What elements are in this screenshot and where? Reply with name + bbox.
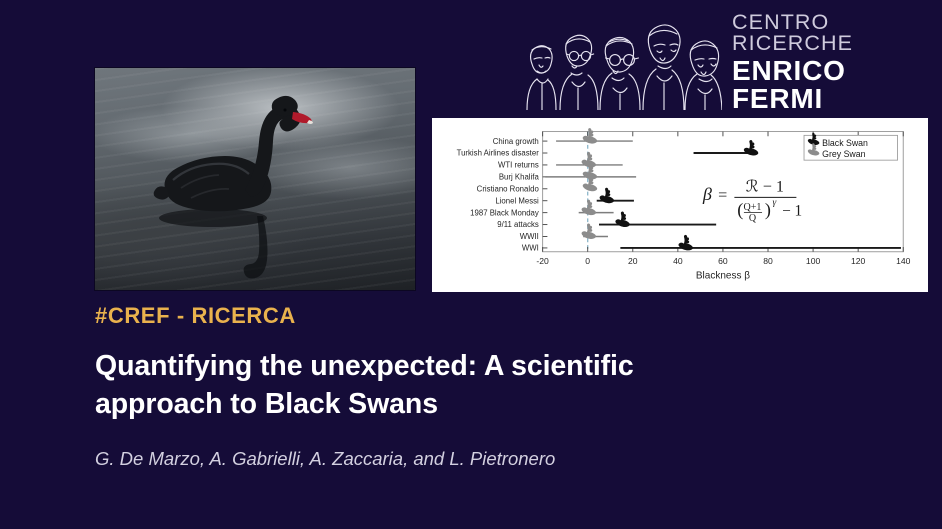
legend-label-black-swan: Black Swan	[822, 138, 868, 148]
xtick-label: 100	[806, 256, 821, 266]
formula-denominator-numerator: Q+1	[744, 202, 762, 213]
xtick-label: 0	[585, 256, 590, 266]
ytick-label: Lionel Messi	[495, 196, 539, 205]
cref-logo: CENTRO RICERCHE ENRICO FERMI	[512, 14, 932, 110]
xtick-label: -20	[536, 256, 549, 266]
formula-tail: − 1	[782, 202, 802, 219]
blackness-scatter-plot: China growth Turkish Airlines disaster W…	[436, 122, 924, 288]
five-portraits-icon	[512, 14, 722, 110]
ytick-label: Turkish Airlines disaster	[457, 149, 540, 158]
black-swan-photo	[95, 68, 415, 290]
xtick-label: 20	[628, 256, 638, 266]
xtick-label: 140	[896, 256, 911, 266]
x-axis-label: Blackness β	[696, 270, 750, 281]
logo-line-centro-ricerche: CENTRO RICERCHE	[732, 12, 932, 55]
formula-denominator-denominator: Q	[749, 213, 757, 224]
ytick-label: WTI returns	[498, 161, 539, 170]
formula-numerator: ℛ − 1	[746, 178, 784, 196]
page-title-line-1: Quantifying the unexpected: A scientific	[95, 350, 634, 382]
ytick-label: Burj Khalifa	[499, 173, 540, 182]
xtick-label: 120	[851, 256, 866, 266]
kicker-cref-ricerca: #CREF - RICERCA	[95, 303, 296, 329]
chart-legend: Black Swan Grey Swan	[804, 133, 897, 160]
ytick-label: 9/11 attacks	[497, 220, 539, 229]
formula-paren-open: (	[737, 199, 743, 220]
page-title: Quantifying the unexpected: A scientific…	[95, 348, 755, 424]
formula-paren-close: )	[765, 199, 771, 220]
ytick-label: WWII	[520, 232, 539, 241]
ytick-label: WWI	[522, 244, 539, 253]
authors-line: G. De Marzo, A. Gabrielli, A. Zaccaria, …	[95, 448, 555, 470]
page-title-line-2: approach to Black Swans	[95, 388, 438, 420]
presentation-slide: CENTRO RICERCHE ENRICO FERMI	[0, 0, 942, 529]
blackness-chart-panel: China growth Turkish Airlines disaster W…	[432, 118, 928, 292]
formula-beta: β	[702, 184, 712, 204]
formula-equals: =	[718, 186, 727, 204]
ytick-label: 1987 Black Monday	[470, 208, 539, 217]
swan-illustration	[95, 68, 415, 290]
logo-line-enrico-fermi: ENRICO FERMI	[732, 57, 932, 113]
xtick-label: 80	[763, 256, 773, 266]
legend-label-grey-swan: Grey Swan	[822, 149, 865, 159]
xtick-label: 60	[718, 256, 728, 266]
ytick-label: Cristiano Ronaldo	[477, 184, 540, 193]
ytick-label: China growth	[493, 137, 539, 146]
xtick-label: 40	[673, 256, 683, 266]
formula-exponent-gamma: γ	[773, 197, 777, 208]
